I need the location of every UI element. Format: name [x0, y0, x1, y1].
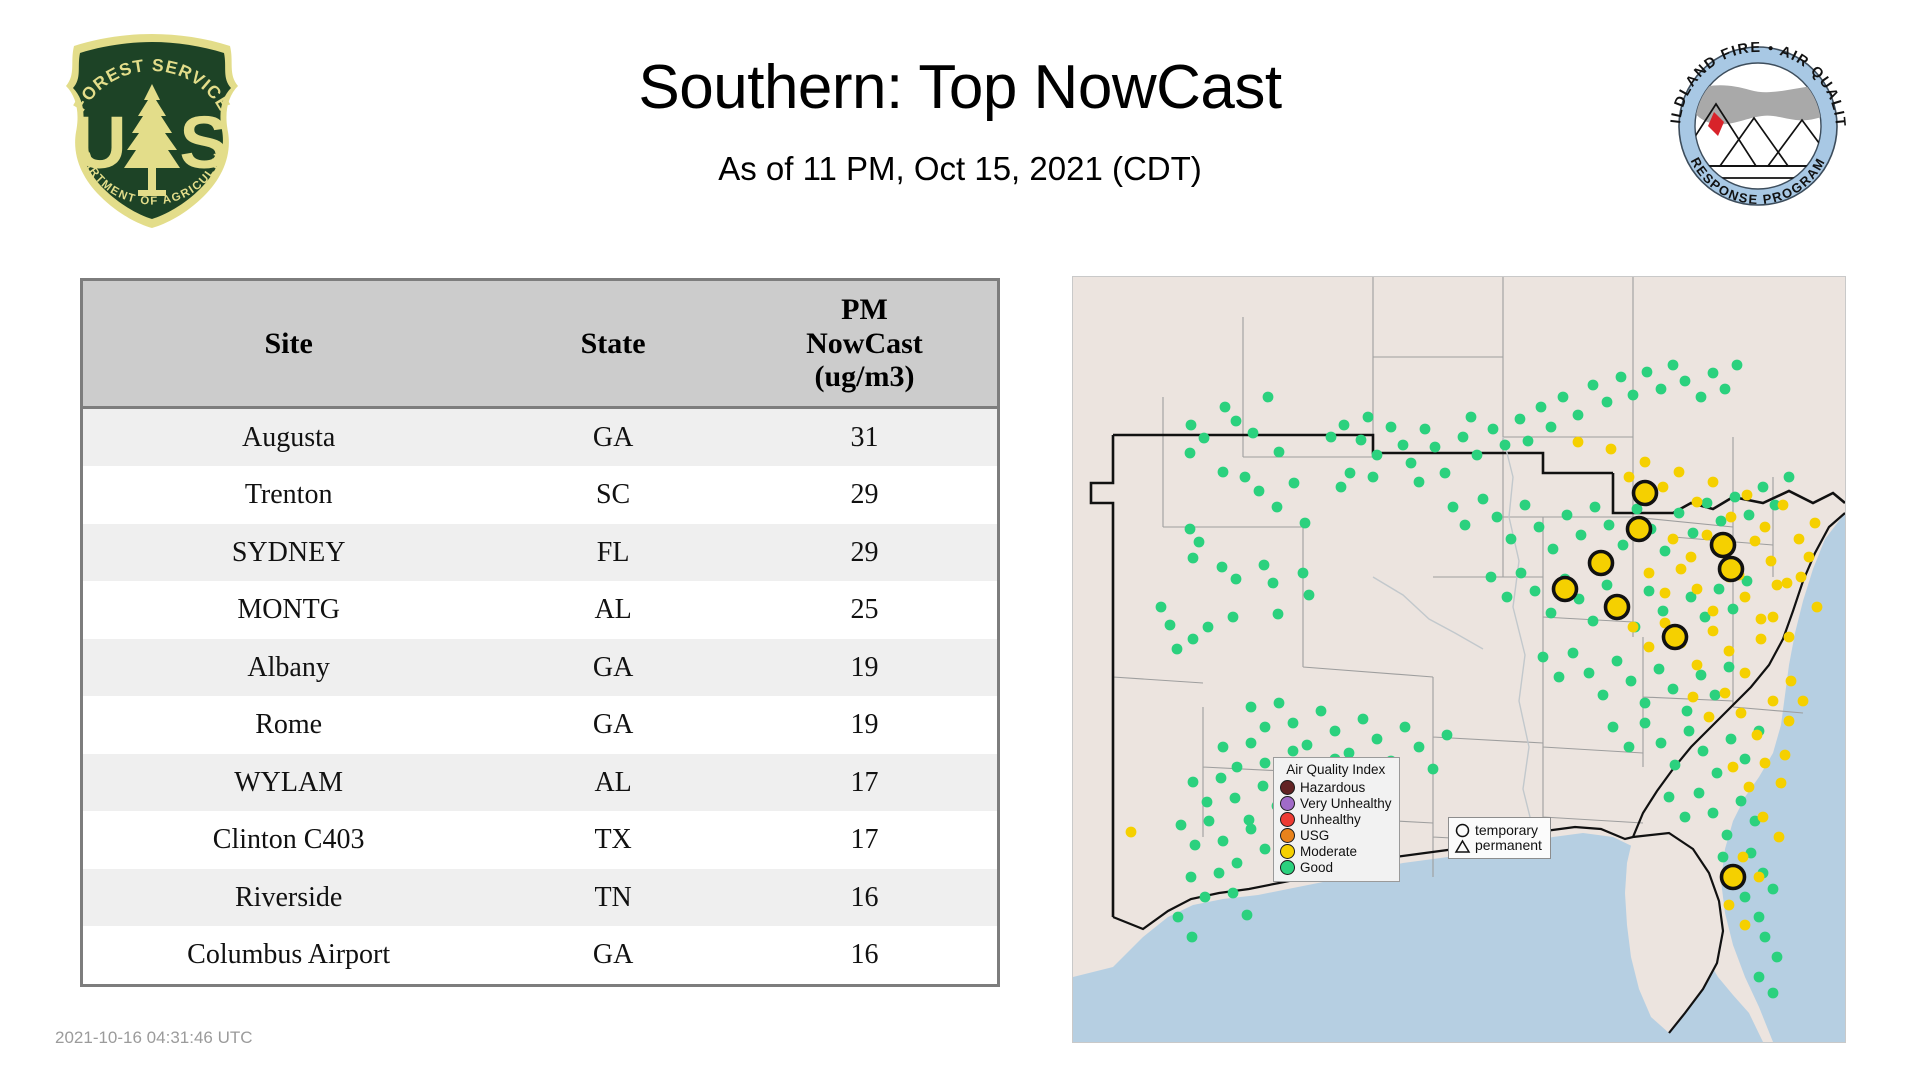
monitor-marker-moderate[interactable]: [1692, 497, 1703, 508]
monitor-marker-good[interactable]: [1156, 602, 1167, 613]
monitor-marker-good[interactable]: [1186, 420, 1197, 431]
monitor-marker-moderate[interactable]: [1704, 712, 1715, 723]
monitor-marker-good[interactable]: [1240, 472, 1251, 483]
monitor-marker-good[interactable]: [1714, 584, 1725, 595]
monitor-marker-good[interactable]: [1548, 544, 1559, 555]
monitor-marker-good[interactable]: [1724, 662, 1735, 673]
monitor-marker-good[interactable]: [1218, 836, 1229, 847]
monitor-marker-good[interactable]: [1660, 546, 1671, 557]
monitor-marker-good[interactable]: [1740, 754, 1751, 765]
monitor-marker-moderate[interactable]: [1126, 827, 1137, 838]
monitor-marker-moderate[interactable]: [1640, 457, 1651, 468]
monitor-marker-good[interactable]: [1516, 568, 1527, 579]
monitor-marker-good[interactable]: [1732, 360, 1743, 371]
monitor-marker-moderate[interactable]: [1766, 556, 1777, 567]
table-row: RomeGA19: [83, 696, 997, 754]
site-cell: Augusta: [83, 407, 494, 466]
monitor-marker-good[interactable]: [1624, 742, 1635, 753]
monitor-marker-good[interactable]: [1194, 537, 1205, 548]
monitor-marker-good[interactable]: [1680, 376, 1691, 387]
site-cell: SYDNEY: [83, 524, 494, 582]
temporary-label: temporary: [1475, 823, 1542, 838]
monitor-marker-good[interactable]: [1372, 734, 1383, 745]
monitor-marker-moderate[interactable]: [1644, 642, 1655, 653]
monitor-marker-moderate[interactable]: [1756, 614, 1767, 625]
monitor-marker-good[interactable]: [1730, 492, 1741, 503]
state-cell: TN: [494, 869, 732, 927]
monitor-marker-good[interactable]: [1668, 684, 1679, 695]
monitor-marker-good[interactable]: [1263, 392, 1274, 403]
monitor-marker-good[interactable]: [1590, 502, 1601, 513]
monitor-marker-good[interactable]: [1642, 367, 1653, 378]
monitor-marker-good[interactable]: [1628, 390, 1639, 401]
site-cell: Riverside: [83, 869, 494, 927]
map-canvas[interactable]: [1073, 277, 1845, 1042]
monitor-marker-moderate[interactable]: [1708, 626, 1719, 637]
monitor-marker-good[interactable]: [1534, 522, 1545, 533]
monitor-marker-good[interactable]: [1190, 840, 1201, 851]
monitor-marker-good[interactable]: [1244, 815, 1255, 826]
monitor-marker-good[interactable]: [1588, 380, 1599, 391]
monitor-marker-good[interactable]: [1772, 952, 1783, 963]
monitor-marker-good[interactable]: [1768, 884, 1779, 895]
monitor-marker-good[interactable]: [1272, 502, 1283, 513]
monitor-marker-moderate[interactable]: [1724, 900, 1735, 911]
monitor-marker-good[interactable]: [1336, 482, 1347, 493]
monitor-marker-good[interactable]: [1230, 793, 1241, 804]
monitor-marker-moderate[interactable]: [1772, 580, 1783, 591]
monitor-type-legend: temporary permanent: [1448, 817, 1551, 859]
monitor-marker-moderate[interactable]: [1676, 564, 1687, 575]
value-cell: 29: [732, 466, 997, 524]
monitor-marker-good[interactable]: [1488, 424, 1499, 435]
monitor-marker-good[interactable]: [1185, 448, 1196, 459]
monitor-marker-good[interactable]: [1538, 652, 1549, 663]
column-header-pm-line3: (ug/m3): [736, 360, 993, 394]
monitor-marker-good[interactable]: [1200, 892, 1211, 903]
monitor-marker-good[interactable]: [1259, 560, 1270, 571]
aqi-legend-label: Unhealthy: [1300, 813, 1361, 827]
monitor-marker-moderate[interactable]: [1606, 444, 1617, 455]
monitor-marker-good[interactable]: [1188, 634, 1199, 645]
site-cell: MONTG: [83, 581, 494, 639]
monitor-marker-good[interactable]: [1588, 616, 1599, 627]
aqi-legend-item: USG: [1280, 828, 1392, 843]
site-cell: Trenton: [83, 466, 494, 524]
monitor-marker-good[interactable]: [1682, 706, 1693, 717]
monitor-marker-good[interactable]: [1172, 644, 1183, 655]
table-row: WYLAMAL17: [83, 754, 997, 812]
monitor-marker-moderate[interactable]: [1804, 552, 1815, 563]
monitor-marker-good[interactable]: [1754, 912, 1765, 923]
monitor-marker-moderate[interactable]: [1726, 512, 1737, 523]
monitor-marker-good[interactable]: [1492, 512, 1503, 523]
monitor-marker-good[interactable]: [1199, 433, 1210, 444]
monitor-marker-good[interactable]: [1414, 742, 1425, 753]
monitor-marker-good[interactable]: [1716, 516, 1727, 527]
monitor-marker-moderate[interactable]: [1768, 612, 1779, 623]
monitor-marker-moderate[interactable]: [1702, 530, 1713, 541]
monitor-marker-good[interactable]: [1248, 428, 1259, 439]
monitor-marker-good[interactable]: [1220, 402, 1231, 413]
monitor-marker-good[interactable]: [1217, 562, 1228, 573]
monitor-marker-good[interactable]: [1486, 572, 1497, 583]
monitor-marker-good[interactable]: [1558, 392, 1569, 403]
monitor-marker-good[interactable]: [1720, 384, 1731, 395]
monitor-marker-good[interactable]: [1712, 768, 1723, 779]
monitor-marker-good[interactable]: [1472, 450, 1483, 461]
table-row: Clinton C403TX17: [83, 811, 997, 869]
monitor-marker-good[interactable]: [1448, 502, 1459, 513]
monitor-marker-good[interactable]: [1656, 738, 1667, 749]
monitor-marker-moderate[interactable]: [1644, 568, 1655, 579]
monitor-marker-moderate[interactable]: [1573, 437, 1584, 448]
state-cell: GA: [494, 639, 732, 697]
monitor-marker-good[interactable]: [1684, 726, 1695, 737]
aqi-legend-label: Hazardous: [1300, 781, 1365, 795]
aqi-legend-item: Good: [1280, 860, 1392, 875]
monitor-marker-good[interactable]: [1302, 740, 1313, 751]
monitor-marker-top-site[interactable]: [1590, 552, 1613, 575]
monitor-marker-moderate[interactable]: [1738, 852, 1749, 863]
monitor-marker-moderate[interactable]: [1760, 758, 1771, 769]
monitor-marker-good[interactable]: [1656, 384, 1667, 395]
monitor-marker-good[interactable]: [1430, 442, 1441, 453]
monitor-marker-good[interactable]: [1260, 758, 1271, 769]
monitor-marker-good[interactable]: [1674, 508, 1685, 519]
monitor-marker-good[interactable]: [1358, 714, 1369, 725]
monitor-marker-good[interactable]: [1530, 586, 1541, 597]
monitor-marker-moderate[interactable]: [1796, 572, 1807, 583]
aqi-legend-swatch: [1280, 812, 1295, 827]
monitor-marker-good[interactable]: [1386, 422, 1397, 433]
air-quality-map[interactable]: Air Quality Index HazardousVery Unhealth…: [1072, 276, 1846, 1043]
monitor-marker-moderate[interactable]: [1754, 872, 1765, 883]
monitor-marker-top-site[interactable]: [1606, 596, 1629, 619]
monitor-marker-moderate[interactable]: [1724, 646, 1735, 657]
monitor-marker-moderate[interactable]: [1660, 588, 1671, 599]
monitor-marker-moderate[interactable]: [1708, 606, 1719, 617]
monitor-marker-good[interactable]: [1440, 468, 1451, 479]
monitor-marker-good[interactable]: [1608, 722, 1619, 733]
monitor-marker-good[interactable]: [1202, 797, 1213, 808]
monitor-marker-good[interactable]: [1698, 746, 1709, 757]
monitor-marker-good[interactable]: [1584, 668, 1595, 679]
monitor-marker-good[interactable]: [1696, 670, 1707, 681]
monitor-marker-moderate[interactable]: [1784, 632, 1795, 643]
monitor-marker-moderate[interactable]: [1750, 536, 1761, 547]
value-cell: 29: [732, 524, 997, 582]
monitor-marker-good[interactable]: [1670, 760, 1681, 771]
monitor-marker-good[interactable]: [1186, 872, 1197, 883]
monitor-marker-good[interactable]: [1232, 858, 1243, 869]
monitor-marker-good[interactable]: [1274, 447, 1285, 458]
monitor-marker-good[interactable]: [1523, 436, 1534, 447]
monitor-marker-good[interactable]: [1339, 420, 1350, 431]
monitor-marker-good[interactable]: [1187, 932, 1198, 943]
monitor-marker-good[interactable]: [1246, 824, 1257, 835]
monitor-marker-good[interactable]: [1242, 910, 1253, 921]
monitor-marker-good[interactable]: [1708, 808, 1719, 819]
monitor-marker-moderate[interactable]: [1708, 477, 1719, 488]
value-cell: 25: [732, 581, 997, 639]
monitor-marker-good[interactable]: [1363, 412, 1374, 423]
monitor-marker-good[interactable]: [1680, 812, 1691, 823]
monitor-marker-good[interactable]: [1165, 620, 1176, 631]
monitor-marker-good[interactable]: [1466, 412, 1477, 423]
monitor-marker-good[interactable]: [1232, 762, 1243, 773]
monitor-marker-moderate[interactable]: [1674, 467, 1685, 478]
monitor-marker-good[interactable]: [1345, 468, 1356, 479]
monitor-marker-good[interactable]: [1442, 730, 1453, 741]
monitor-marker-good[interactable]: [1356, 435, 1367, 446]
monitor-marker-good[interactable]: [1708, 368, 1719, 379]
monitor-marker-good[interactable]: [1176, 820, 1187, 831]
monitor-marker-good[interactable]: [1274, 698, 1285, 709]
table-row: MONTGAL25: [83, 581, 997, 639]
monitor-marker-moderate[interactable]: [1740, 592, 1751, 603]
monitor-marker-moderate[interactable]: [1782, 578, 1793, 589]
monitor-marker-good[interactable]: [1604, 520, 1615, 531]
column-header-state: State: [494, 281, 732, 407]
monitor-marker-good[interactable]: [1710, 690, 1721, 701]
permanent-triangle-icon: [1454, 839, 1471, 854]
monitor-marker-top-site[interactable]: [1554, 578, 1577, 601]
monitor-marker-good[interactable]: [1618, 540, 1629, 551]
monitor-marker-top-site[interactable]: [1664, 626, 1687, 649]
aqi-legend-item: Hazardous: [1280, 780, 1392, 795]
monitor-marker-good[interactable]: [1740, 892, 1751, 903]
monitor-marker-good[interactable]: [1728, 604, 1739, 615]
state-cell: GA: [494, 407, 732, 466]
monitor-marker-top-site[interactable]: [1634, 482, 1657, 505]
monitor-marker-top-site[interactable]: [1722, 866, 1745, 889]
monitor-marker-good[interactable]: [1214, 868, 1225, 879]
monitor-marker-good[interactable]: [1228, 888, 1239, 899]
aqi-legend-label: USG: [1300, 829, 1329, 843]
monitor-marker-good[interactable]: [1203, 622, 1214, 633]
monitor-marker-good[interactable]: [1626, 676, 1637, 687]
monitor-marker-good[interactable]: [1372, 450, 1383, 461]
monitor-type-labels: temporary permanent: [1475, 823, 1542, 853]
monitor-marker-good[interactable]: [1726, 734, 1737, 745]
monitor-marker-good[interactable]: [1420, 424, 1431, 435]
monitor-marker-moderate[interactable]: [1624, 472, 1635, 483]
monitor-marker-good[interactable]: [1520, 500, 1531, 511]
monitor-marker-good[interactable]: [1744, 510, 1755, 521]
monitor-marker-good[interactable]: [1760, 932, 1771, 943]
aqi-legend-item: Moderate: [1280, 844, 1392, 859]
monitor-type-glyphs: [1454, 822, 1471, 854]
monitor-marker-good[interactable]: [1414, 477, 1425, 488]
monitor-marker-moderate[interactable]: [1794, 534, 1805, 545]
monitor-marker-top-site[interactable]: [1712, 534, 1735, 557]
monitor-marker-good[interactable]: [1460, 520, 1471, 531]
monitor-marker-good[interactable]: [1515, 414, 1526, 425]
monitor-marker-good[interactable]: [1173, 912, 1184, 923]
monitor-marker-moderate[interactable]: [1692, 660, 1703, 671]
aqi-legend-swatch: [1280, 844, 1295, 859]
monitor-marker-good[interactable]: [1598, 690, 1609, 701]
monitor-marker-good[interactable]: [1368, 472, 1379, 483]
monitor-marker-good[interactable]: [1478, 494, 1489, 505]
value-cell: 16: [732, 869, 997, 927]
monitor-marker-moderate[interactable]: [1784, 716, 1795, 727]
monitor-marker-moderate[interactable]: [1686, 552, 1697, 563]
table-row: Columbus AirportGA16: [83, 926, 997, 984]
monitor-marker-good[interactable]: [1326, 432, 1337, 443]
monitor-marker-moderate[interactable]: [1742, 490, 1753, 501]
monitor-marker-good[interactable]: [1228, 612, 1239, 623]
state-cell: GA: [494, 926, 732, 984]
monitor-marker-good[interactable]: [1568, 648, 1579, 659]
monitor-marker-good[interactable]: [1664, 792, 1675, 803]
monitor-marker-good[interactable]: [1736, 796, 1747, 807]
monitor-marker-moderate[interactable]: [1628, 622, 1639, 633]
monitor-marker-moderate[interactable]: [1668, 534, 1679, 545]
monitor-marker-good[interactable]: [1288, 718, 1299, 729]
monitor-marker-good[interactable]: [1260, 844, 1271, 855]
monitor-marker-good[interactable]: [1289, 478, 1300, 489]
monitor-marker-good[interactable]: [1640, 718, 1651, 729]
monitor-marker-good[interactable]: [1246, 738, 1257, 749]
site-cell: Clinton C403: [83, 811, 494, 869]
aqi-legend-swatch: [1280, 828, 1295, 843]
column-header-pm-line1: PM: [736, 293, 993, 327]
monitor-marker-good[interactable]: [1246, 702, 1257, 713]
monitor-marker-good[interactable]: [1758, 482, 1769, 493]
monitor-marker-good[interactable]: [1546, 608, 1557, 619]
monitor-marker-good[interactable]: [1288, 746, 1299, 757]
monitor-marker-moderate[interactable]: [1774, 832, 1785, 843]
monitor-marker-moderate[interactable]: [1780, 750, 1791, 761]
monitor-marker-good[interactable]: [1300, 518, 1311, 529]
site-cell: WYLAM: [83, 754, 494, 812]
monitor-marker-good[interactable]: [1576, 530, 1587, 541]
monitor-marker-moderate[interactable]: [1744, 782, 1755, 793]
monitor-marker-good[interactable]: [1702, 498, 1713, 509]
monitor-marker-good[interactable]: [1254, 486, 1265, 497]
monitor-marker-good[interactable]: [1616, 372, 1627, 383]
value-cell: 31: [732, 407, 997, 466]
monitor-marker-good[interactable]: [1188, 553, 1199, 564]
monitor-marker-good[interactable]: [1644, 586, 1655, 597]
monitor-marker-good[interactable]: [1273, 609, 1284, 620]
monitor-marker-good[interactable]: [1406, 458, 1417, 469]
monitor-marker-moderate[interactable]: [1812, 602, 1823, 613]
monitor-marker-good[interactable]: [1602, 580, 1613, 591]
monitor-marker-good[interactable]: [1640, 698, 1651, 709]
monitor-marker-good[interactable]: [1536, 402, 1547, 413]
monitor-marker-good[interactable]: [1573, 410, 1584, 421]
monitor-marker-good[interactable]: [1298, 568, 1309, 579]
state-cell: AL: [494, 581, 732, 639]
monitor-marker-good[interactable]: [1398, 440, 1409, 451]
monitor-marker-moderate[interactable]: [1720, 688, 1731, 699]
value-cell: 19: [732, 696, 997, 754]
monitor-marker-good[interactable]: [1562, 510, 1573, 521]
monitor-marker-moderate[interactable]: [1740, 920, 1751, 931]
monitor-marker-moderate[interactable]: [1752, 730, 1763, 741]
monitor-marker-moderate[interactable]: [1786, 676, 1797, 687]
monitor-marker-good[interactable]: [1768, 988, 1779, 999]
monitor-marker-good[interactable]: [1718, 852, 1729, 863]
monitor-marker-good[interactable]: [1218, 742, 1229, 753]
monitor-marker-good[interactable]: [1268, 578, 1279, 589]
monitor-marker-moderate[interactable]: [1768, 696, 1779, 707]
monitor-marker-good[interactable]: [1216, 773, 1227, 784]
monitor-marker-good[interactable]: [1330, 726, 1341, 737]
temporary-circle-icon: [1454, 822, 1471, 839]
monitor-marker-good[interactable]: [1546, 422, 1557, 433]
monitor-marker-top-site[interactable]: [1720, 558, 1743, 581]
monitor-marker-moderate[interactable]: [1658, 482, 1669, 493]
monitor-marker-good[interactable]: [1231, 416, 1242, 427]
monitor-marker-moderate[interactable]: [1728, 762, 1739, 773]
monitor-marker-good[interactable]: [1218, 467, 1229, 478]
monitor-marker-moderate[interactable]: [1736, 708, 1747, 719]
monitor-marker-good[interactable]: [1696, 392, 1707, 403]
monitor-marker-moderate[interactable]: [1798, 696, 1809, 707]
monitor-marker-good[interactable]: [1185, 524, 1196, 535]
monitor-marker-good[interactable]: [1260, 722, 1271, 733]
monitor-marker-good[interactable]: [1554, 672, 1565, 683]
monitor-marker-moderate[interactable]: [1760, 522, 1771, 533]
aqi-legend-swatch: [1280, 860, 1295, 875]
monitor-marker-good[interactable]: [1304, 590, 1315, 601]
monitor-marker-moderate[interactable]: [1758, 812, 1769, 823]
monitor-marker-moderate[interactable]: [1692, 584, 1703, 595]
monitor-marker-good[interactable]: [1658, 606, 1669, 617]
monitor-marker-moderate[interactable]: [1756, 634, 1767, 645]
aqi-legend-rows: HazardousVery UnhealthyUnhealthyUSGModer…: [1280, 780, 1392, 875]
monitor-marker-good[interactable]: [1204, 816, 1215, 827]
site-cell: Albany: [83, 639, 494, 697]
monitor-marker-moderate[interactable]: [1810, 518, 1821, 529]
aqi-legend-label: Very Unhealthy: [1300, 797, 1392, 811]
page-subtitle: As of 11 PM, Oct 15, 2021 (CDT): [0, 150, 1920, 188]
monitor-marker-good[interactable]: [1400, 722, 1411, 733]
table-header: Site State PM NowCast (ug/m3): [83, 281, 997, 407]
monitor-marker-good[interactable]: [1188, 777, 1199, 788]
state-cell: SC: [494, 466, 732, 524]
value-cell: 17: [732, 754, 997, 812]
monitor-marker-good[interactable]: [1722, 830, 1733, 841]
monitor-marker-good[interactable]: [1784, 472, 1795, 483]
monitor-marker-good[interactable]: [1500, 440, 1511, 451]
table-body: AugustaGA31TrentonSC29SYDNEYFL29MONTGAL2…: [83, 407, 997, 984]
monitor-marker-good[interactable]: [1654, 664, 1665, 675]
monitor-marker-good[interactable]: [1316, 706, 1327, 717]
monitor-marker-moderate[interactable]: [1778, 500, 1789, 511]
monitor-marker-good[interactable]: [1502, 592, 1513, 603]
monitor-marker-moderate[interactable]: [1776, 778, 1787, 789]
monitor-marker-top-site[interactable]: [1628, 518, 1651, 541]
monitor-marker-good[interactable]: [1668, 360, 1679, 371]
monitor-marker-moderate[interactable]: [1740, 668, 1751, 679]
monitor-marker-good[interactable]: [1458, 432, 1469, 443]
monitor-marker-moderate[interactable]: [1688, 692, 1699, 703]
monitor-marker-good[interactable]: [1688, 528, 1699, 539]
monitor-marker-good[interactable]: [1428, 764, 1439, 775]
monitor-marker-good[interactable]: [1506, 534, 1517, 545]
monitor-marker-good[interactable]: [1694, 788, 1705, 799]
monitor-marker-good[interactable]: [1612, 656, 1623, 667]
monitor-marker-good[interactable]: [1754, 972, 1765, 983]
monitor-marker-good[interactable]: [1602, 397, 1613, 408]
monitor-marker-good[interactable]: [1231, 574, 1242, 585]
monitor-marker-good[interactable]: [1258, 781, 1269, 792]
